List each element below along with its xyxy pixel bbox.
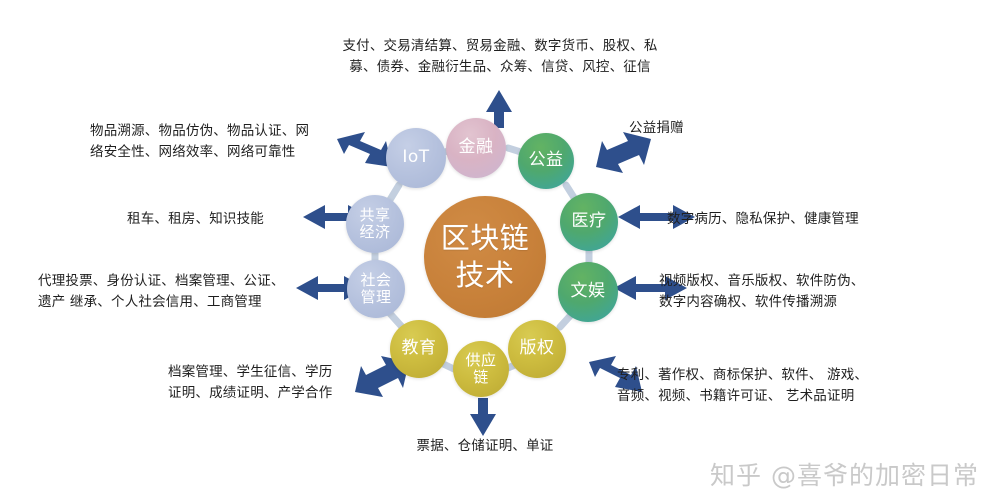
- node-culture-label: 文娱: [571, 282, 606, 301]
- callout-medical: 数字病历、隐私保护、健康管理: [667, 209, 947, 230]
- center-node-label: 区块链 技术: [441, 220, 530, 294]
- node-medical[interactable]: 医疗: [560, 193, 618, 251]
- callout-education: 档案管理、学生征信、学历 证明、成绩证明、产学合作: [168, 362, 368, 404]
- node-supply-chain-label: 供应 链: [465, 352, 496, 386]
- node-education[interactable]: 教育: [390, 320, 448, 378]
- node-education-label: 教育: [402, 339, 437, 358]
- arrow-supply: [470, 398, 496, 436]
- node-charity[interactable]: 公益: [518, 133, 574, 189]
- watermark: 知乎 @喜爷的加密日常: [710, 456, 979, 492]
- node-supply-chain[interactable]: 供应 链: [453, 341, 509, 397]
- center-node-blockchain[interactable]: 区块链 技术: [424, 196, 546, 318]
- node-social-management-label: 社会 管理: [360, 272, 391, 306]
- node-iot-label: IoT: [402, 148, 429, 167]
- node-finance[interactable]: 金融: [446, 118, 506, 178]
- node-finance-label: 金融: [459, 138, 494, 157]
- callout-culture: 视频版权、音乐版权、软件防伪、 数字内容确权、软件传播溯源: [659, 271, 949, 313]
- callout-copyright: 专利、著作权、商标保护、软件、 游戏、 音频、视频、书籍许可证、 艺术品证明: [617, 365, 917, 407]
- node-iot[interactable]: IoT: [386, 128, 446, 188]
- callout-supply-chain: 票据、仓储证明、单证: [390, 436, 580, 457]
- node-copyright[interactable]: 版权: [508, 320, 566, 378]
- callout-finance: 支付、交易清结算、贸易金融、数字货币、股权、私 募、债券、金融衍生品、众筹、信贷…: [310, 36, 690, 78]
- node-culture[interactable]: 文娱: [558, 262, 618, 322]
- node-copyright-label: 版权: [520, 339, 555, 358]
- callout-charity: 公益捐赠: [629, 118, 829, 139]
- node-medical-label: 医疗: [572, 212, 607, 231]
- callout-social: 代理投票、身份认证、档案管理、公证、 遗产 继承、个人社会信用、工商管理: [38, 271, 308, 313]
- callout-iot: 物品溯源、物品仿伪、物品认证、网 络安全性、网络效率、网络可靠性: [90, 121, 340, 163]
- callout-sharing: 租车、租房、知识技能: [127, 209, 307, 230]
- node-charity-label: 公益: [529, 151, 564, 170]
- node-sharing-economy[interactable]: 共享 经济: [346, 195, 404, 253]
- node-social-management[interactable]: 社会 管理: [347, 260, 405, 318]
- arrow-iot: [337, 132, 392, 167]
- diagram-canvas: 区块链 技术 金融 公益 医疗 文娱 版权 供应 链 教育 社会 管理 共享 经…: [0, 0, 997, 500]
- node-sharing-economy-label: 共享 经济: [359, 207, 390, 241]
